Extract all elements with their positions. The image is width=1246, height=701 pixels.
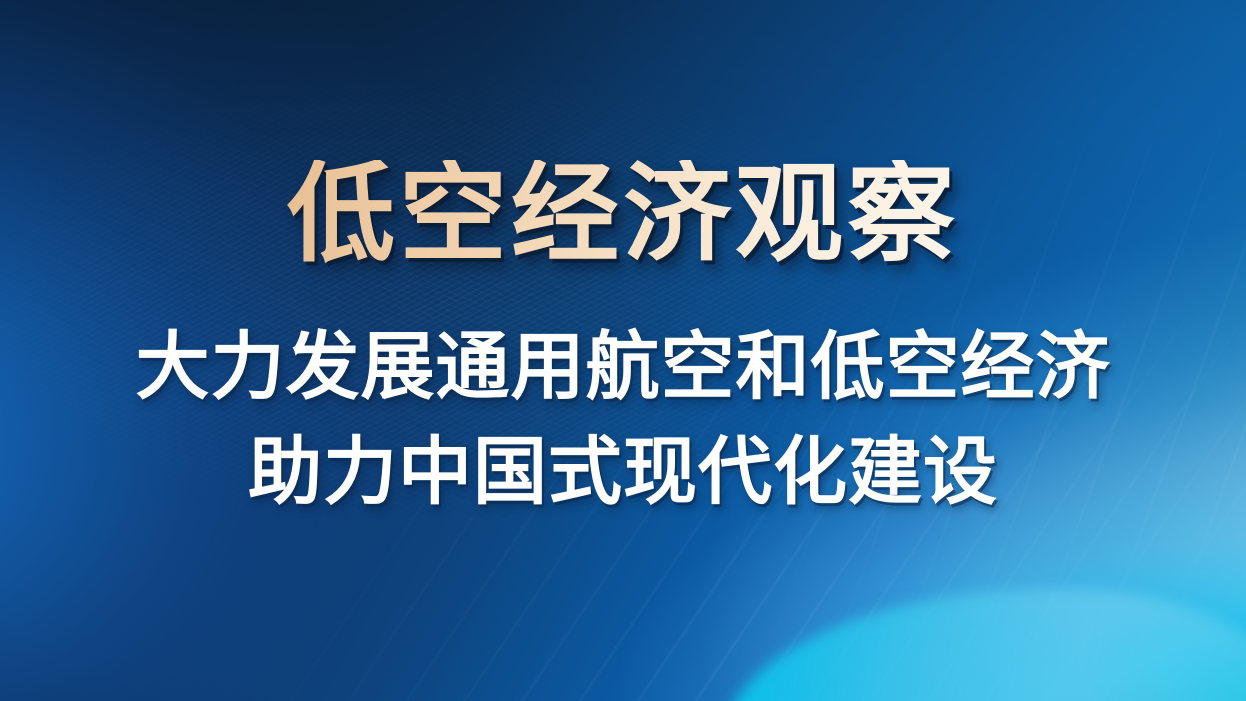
banner-headline: 低空经济观察 — [287, 160, 959, 268]
banner-text-block: 低空经济观察 大力发展通用航空和低空经济 助力中国式现代化建设 — [0, 0, 1246, 701]
low-altitude-economy-banner: 低空经济观察 大力发展通用航空和低空经济 助力中国式现代化建设 — [0, 0, 1246, 701]
banner-subheadline: 大力发展通用航空和低空经济 助力中国式现代化建设 — [136, 320, 1111, 518]
banner-subheadline-line-2: 助力中国式现代化建设 — [136, 425, 1111, 518]
banner-subheadline-line-1: 大力发展通用航空和低空经济 — [136, 320, 1111, 413]
